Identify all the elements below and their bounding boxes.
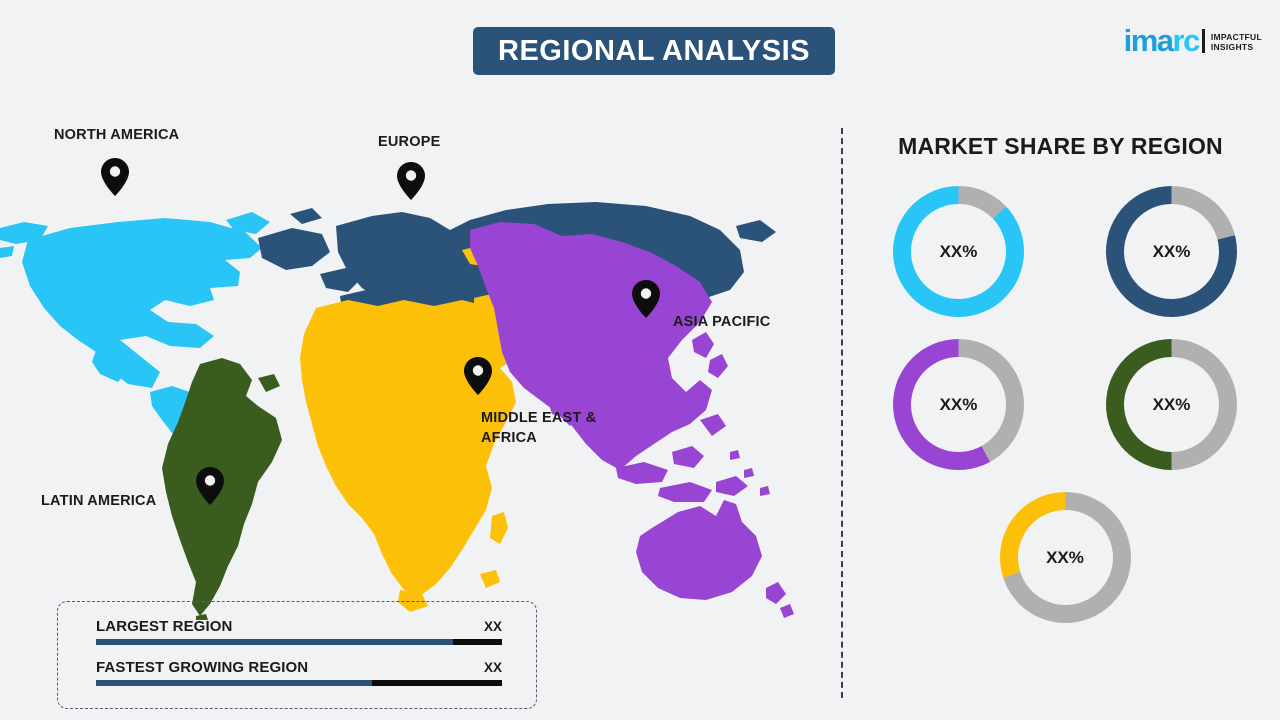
page-title-banner: REGIONAL ANALYSIS xyxy=(473,27,835,75)
donut-hole-north-america: XX% xyxy=(911,204,1006,299)
map-pin-asia-pacific-icon[interactable] xyxy=(632,280,660,318)
map-label-latin-america: LATIN AMERICA xyxy=(41,492,156,512)
map-pin-latin-america-icon[interactable] xyxy=(196,467,224,505)
donut-chart-latin-america[interactable]: XX% xyxy=(1106,339,1237,470)
legend-bar-fastest-growing-region xyxy=(96,680,502,686)
imarc-logo: imarc IMPACTFUL INSIGHTS xyxy=(1124,22,1262,56)
donut-value-asia-pacific: XX% xyxy=(940,395,978,415)
donut-hole-middle-east-africa: XX% xyxy=(1018,510,1113,605)
region-summary-box: LARGEST REGION XX FASTEST GROWING REGION… xyxy=(57,601,537,709)
donut-row-1: XX% XX% xyxy=(860,186,1270,317)
logo-wordmark-part1: ima xyxy=(1124,23,1173,58)
legend-value-largest-region: XX xyxy=(484,619,502,634)
map-label-north-america: NORTH AMERICA xyxy=(54,126,179,146)
donut-value-middle-east-africa: XX% xyxy=(1046,548,1084,568)
legend-value-fastest-growing-region: XX xyxy=(484,660,502,675)
map-pin-europe-icon[interactable] xyxy=(397,162,425,200)
map-pin-north-america-icon[interactable] xyxy=(101,158,129,196)
market-share-donut-group: XX% XX% XX% XX% XX% xyxy=(860,186,1270,645)
legend-title-fastest-growing-region: FASTEST GROWING REGION xyxy=(96,659,308,676)
donut-row-2: XX% XX% xyxy=(860,339,1270,470)
logo-tagline-line2: INSIGHTS xyxy=(1211,43,1262,53)
logo-wordmark: imarc xyxy=(1124,25,1199,56)
donut-value-latin-america: XX% xyxy=(1153,395,1191,415)
legend-row-fastest-growing-region: FASTEST GROWING REGION XX xyxy=(96,659,502,686)
donut-value-north-america: XX% xyxy=(940,242,978,262)
donut-chart-asia-pacific[interactable]: XX% xyxy=(893,339,1024,470)
donut-hole-latin-america: XX% xyxy=(1124,357,1219,452)
map-label-asia-pacific: ASIA PACIFIC xyxy=(673,313,770,333)
donut-row-3: XX% xyxy=(860,492,1270,623)
logo-wordmark-part2: rc xyxy=(1173,23,1199,58)
legend-bar-fill-largest-region xyxy=(96,639,453,645)
map-label-europe: EUROPE xyxy=(378,133,440,153)
map-pin-middle-east-africa-icon[interactable] xyxy=(464,357,492,395)
market-share-title: MARKET SHARE BY REGION xyxy=(841,133,1280,160)
donut-chart-europe[interactable]: XX% xyxy=(1106,186,1237,317)
donut-value-europe: XX% xyxy=(1153,242,1191,262)
donut-chart-north-america[interactable]: XX% xyxy=(893,186,1024,317)
page-title: REGIONAL ANALYSIS xyxy=(498,35,810,68)
map-label-middle-east-africa: MIDDLE EAST & AFRICA xyxy=(481,409,596,448)
donut-hole-europe: XX% xyxy=(1124,204,1219,299)
legend-title-largest-region: LARGEST REGION xyxy=(96,618,232,635)
legend-row-largest-region: LARGEST REGION XX xyxy=(96,618,502,645)
legend-bar-fill-fastest-growing-region xyxy=(96,680,372,686)
logo-tagline: IMPACTFUL INSIGHTS xyxy=(1211,33,1262,56)
section-divider xyxy=(841,128,843,698)
legend-bar-largest-region xyxy=(96,639,502,645)
donut-chart-middle-east-africa[interactable]: XX% xyxy=(1000,492,1131,623)
donut-hole-asia-pacific: XX% xyxy=(911,357,1006,452)
logo-divider-bar xyxy=(1202,29,1205,53)
